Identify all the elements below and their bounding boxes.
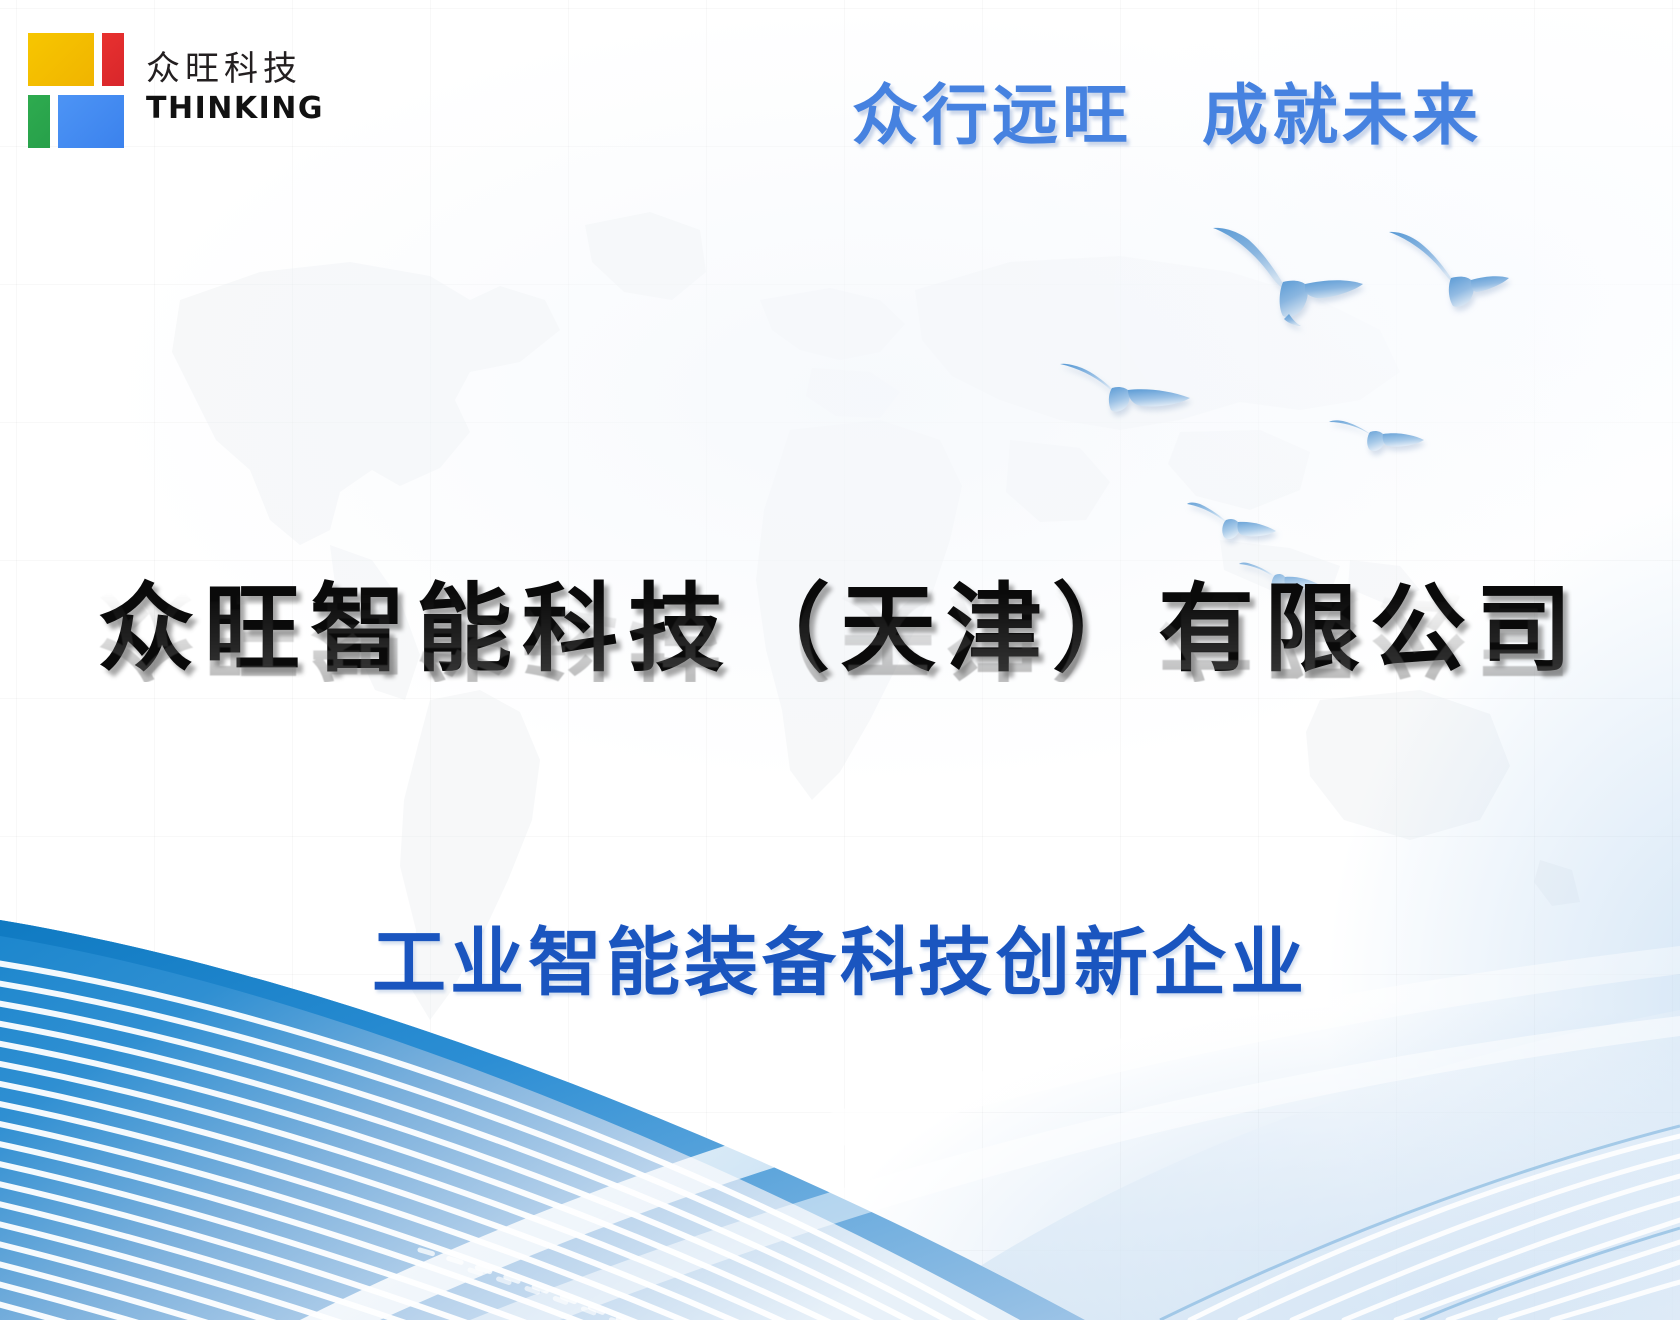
company-title-reflection: 众旺智能科技（天津）有限公司 [0, 582, 1680, 682]
logo-chinese-name: 众旺科技 [146, 52, 324, 88]
company-subtitle: 工业智能装备科技创新企业 [0, 903, 1680, 1010]
presentation-slide: 众旺科技 THINKING 众行远旺 成就未来 [0, 0, 1680, 1320]
logo-text: 众旺科技 THINKING [146, 52, 324, 124]
logo-green-block [28, 95, 50, 148]
seagull-icon-1 [1205, 222, 1370, 327]
seagull-icon-2 [1385, 228, 1510, 308]
slide-header: 众旺科技 THINKING 众行远旺 成就未来 [0, 0, 1680, 190]
logo-blue-block [58, 95, 124, 148]
seagull-icon-3 [1058, 362, 1198, 432]
logo-yellow-block [28, 33, 94, 86]
company-tagline: 众行远旺 成就未来 [852, 62, 1482, 158]
title-block: 众旺智能科技（天津）有限公司 众旺智能科技（天津）有限公司 [0, 580, 1680, 782]
logo-mark [28, 33, 136, 149]
seagull-icon-5 [1186, 500, 1282, 552]
seagull-icon-4 [1328, 416, 1426, 466]
logo-english-name: THINKING [146, 94, 324, 124]
logo-red-block [102, 33, 124, 86]
